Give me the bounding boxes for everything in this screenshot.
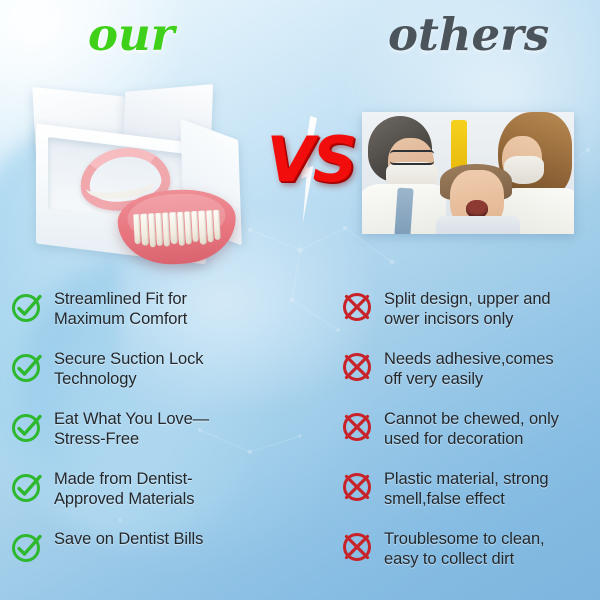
list-item-line1: Plastic material, strong <box>384 470 549 488</box>
red-x-circle-icon <box>340 530 374 564</box>
vs-badge: VS <box>259 120 363 220</box>
list-item-text: Split design, upper and ower incisors on… <box>384 288 551 329</box>
list-item-line1: Streamlined Fit for <box>54 290 187 308</box>
patient-bib <box>436 216 520 234</box>
green-check-circle-icon <box>10 530 44 564</box>
header-others: others <box>388 8 549 61</box>
list-item-text: Needs adhesive,comes off very easily <box>384 348 554 389</box>
list-item-line2: ower incisors only <box>384 310 513 328</box>
comparison-infographic: our others VS <box>0 0 600 600</box>
list-item-line2: smell,false effect <box>384 490 505 508</box>
list-item: Save on Dentist Bills <box>10 528 280 564</box>
list-item-text: Troublesome to clean, easy to collect di… <box>384 528 545 569</box>
list-item-line1: Secure Suction Lock <box>54 350 203 368</box>
list-item-text: Plastic material, strong smell,false eff… <box>384 468 549 509</box>
list-item-line2: Approved Materials <box>54 490 194 508</box>
list-item-text: Made from Dentist- Approved Materials <box>54 468 194 509</box>
product-photo-dentures-in-box <box>32 86 264 284</box>
list-item: Plastic material, strong smell,false eff… <box>340 468 600 512</box>
list-item-line1: Troublesome to clean, <box>384 530 545 548</box>
cons-list: Split design, upper and ower incisors on… <box>340 288 600 588</box>
red-x-circle-icon <box>340 350 374 384</box>
green-check-circle-icon <box>10 350 44 384</box>
list-item: Split design, upper and ower incisors on… <box>340 288 600 332</box>
list-item-line2: easy to collect dirt <box>384 550 514 568</box>
list-item-line2: Stress-Free <box>54 430 139 448</box>
list-item-line1: Eat What You Love— <box>54 410 209 428</box>
list-item-text: Cannot be chewed, only used for decorati… <box>384 408 559 449</box>
vs-label: VS <box>259 122 363 198</box>
green-check-circle-icon <box>10 290 44 324</box>
dentist-glasses-icon <box>390 150 434 165</box>
pros-list: Streamlined Fit for Maximum Comfort Secu… <box>10 288 280 580</box>
header-our: our <box>88 8 174 61</box>
list-item-line2: Maximum Comfort <box>54 310 187 328</box>
list-item: Cannot be chewed, only used for decorati… <box>340 408 600 452</box>
list-item-text: Secure Suction Lock Technology <box>54 348 203 389</box>
list-item: Made from Dentist- Approved Materials <box>10 468 280 512</box>
list-item: Needs adhesive,comes off very easily <box>340 348 600 392</box>
list-item-line1: Split design, upper and <box>384 290 551 308</box>
red-x-circle-icon <box>340 290 374 324</box>
list-item-text: Streamlined Fit for Maximum Comfort <box>54 288 187 329</box>
list-item-line1: Needs adhesive,comes <box>384 350 554 368</box>
dentist-tie <box>394 188 413 234</box>
list-item-line2: used for decoration <box>384 430 523 448</box>
list-item: Eat What You Love— Stress-Free <box>10 408 280 452</box>
red-x-circle-icon <box>340 410 374 444</box>
red-x-circle-icon <box>340 470 374 504</box>
list-item-line1: Made from Dentist- <box>54 470 193 488</box>
denture-teeth <box>133 210 221 248</box>
list-item: Streamlined Fit for Maximum Comfort <box>10 288 280 332</box>
green-check-circle-icon <box>10 410 44 444</box>
list-item-line1: Cannot be chewed, only <box>384 410 559 428</box>
list-item: Secure Suction Lock Technology <box>10 348 280 392</box>
green-check-circle-icon <box>10 470 44 504</box>
list-item-text: Eat What You Love— Stress-Free <box>54 408 209 449</box>
list-item-text: Save on Dentist Bills <box>54 528 203 549</box>
list-item-line2: Technology <box>54 370 136 388</box>
clinic-photo <box>362 112 574 234</box>
list-item-line2: off very easily <box>384 370 483 388</box>
list-item: Troublesome to clean, easy to collect di… <box>340 528 600 572</box>
